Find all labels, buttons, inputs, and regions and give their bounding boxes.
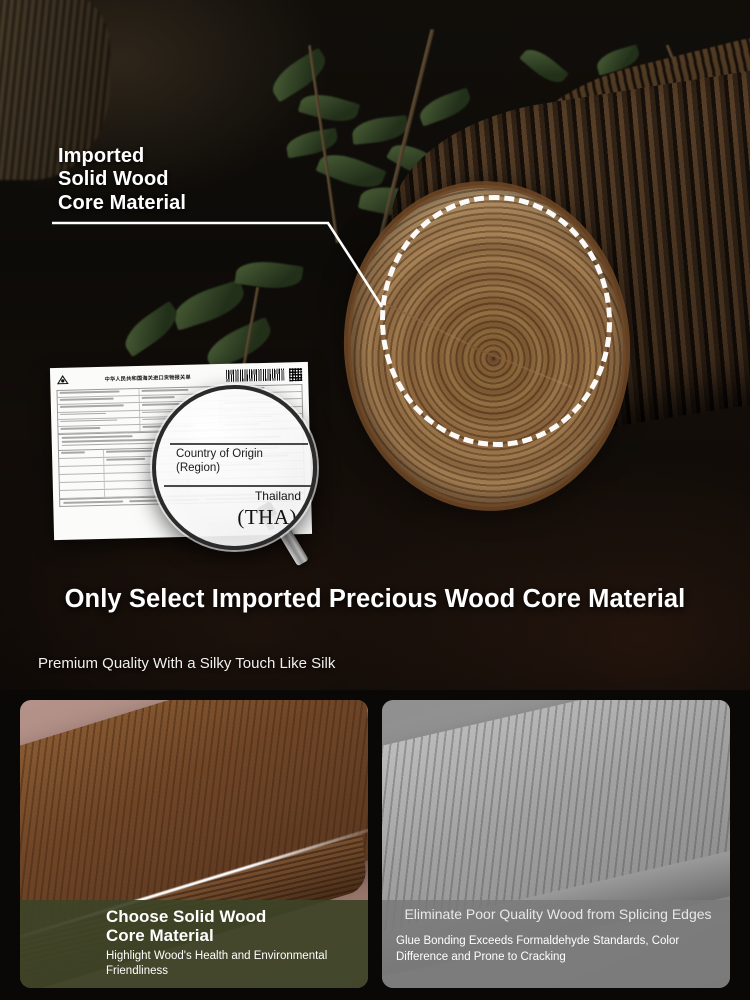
page-subtitle: Premium Quality With a Silky Touch Like … xyxy=(38,655,335,672)
magnifier-lens: Country of Origin (Region) Thailand (THA… xyxy=(152,385,317,550)
panel-solid-wood[interactable]: Choose Solid Wood Core Material Highligh… xyxy=(20,700,368,988)
panel-spliced-wood[interactable]: Eliminate Poor Quality Wood from Splicin… xyxy=(382,700,730,988)
panel-title-line-2: Core Material xyxy=(106,926,368,945)
callout-leader-line xyxy=(50,215,410,325)
customs-emblem-icon xyxy=(56,373,69,386)
document-title: 中华人民共和国海关进口货物报关单 xyxy=(74,372,221,383)
magnifier-country: Thailand xyxy=(255,489,301,503)
panel-subtitle: Glue Bonding Exceeds Formaldehyde Standa… xyxy=(396,934,720,965)
panel-subtitle: Highlight Wood's Health and Environmenta… xyxy=(106,949,368,979)
callout-line-1: Imported xyxy=(58,145,388,168)
panel-title: Eliminate Poor Quality Wood from Splicin… xyxy=(396,906,720,922)
magnifier-country-code: (THA) xyxy=(237,505,297,530)
callout-line-2: Solid Wood xyxy=(58,168,388,191)
magnifier-origin-label: Country of Origin (Region) xyxy=(176,447,306,476)
barcode-icon xyxy=(226,368,284,381)
panel-caption-good: Choose Solid Wood Core Material Highligh… xyxy=(20,900,368,988)
callout-line-3: Core Material xyxy=(58,192,388,215)
callout-label: Imported Solid Wood Core Material xyxy=(58,145,388,215)
page-title: Only Select Imported Precious Wood Core … xyxy=(0,585,750,614)
product-detail-page: Imported Solid Wood Core Material 中华人民共和… xyxy=(0,0,750,1000)
panel-caption-bad: Eliminate Poor Quality Wood from Splicin… xyxy=(382,900,730,988)
panel-title-line-1: Choose Solid Wood xyxy=(106,907,368,926)
qr-code-icon xyxy=(289,368,302,381)
comparison-panels: Choose Solid Wood Core Material Highligh… xyxy=(20,700,730,990)
